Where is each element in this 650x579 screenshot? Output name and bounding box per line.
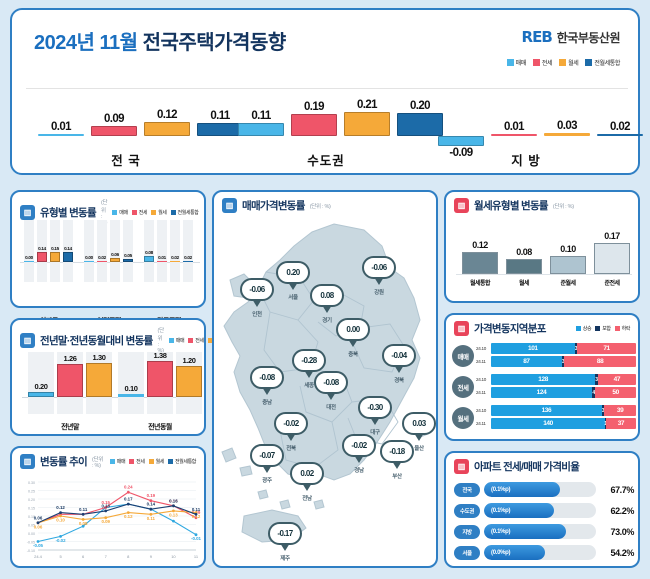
header-chart: 0.010.090.120.11전 국0.110.190.210.20수도권-0… xyxy=(26,88,628,172)
page-title: 2024년 11월 전국주택가격동향 xyxy=(34,26,286,55)
panel-e-plot: 매매24.1010137124.1187388전세24.1012834724.1… xyxy=(452,343,636,439)
legend-swatch xyxy=(533,59,540,66)
header-bars: -0.090.010.030.02 xyxy=(438,88,643,136)
map-pin-전남[interactable]: 0.02전남 xyxy=(290,462,324,502)
bar-value: 0.00 xyxy=(21,255,37,260)
svg-text:0.19: 0.19 xyxy=(147,493,156,498)
title-year-month: 2024년 11월 xyxy=(34,32,138,54)
legend-label: 전세 xyxy=(542,58,552,67)
legend-label: 월세 xyxy=(158,209,166,216)
map-pin-label: 전남 xyxy=(290,494,324,502)
header-group-label: 전 국 xyxy=(26,150,226,169)
dist-row: 24.10101371 xyxy=(476,343,636,354)
header-bar xyxy=(38,134,84,136)
panel-price-change-region-dist: ▥ 가격변동지역분포 상승보합하락 매매24.1010137124.118738… xyxy=(444,313,640,441)
map-pin-value: -0.04 xyxy=(382,344,416,367)
bar xyxy=(63,252,73,262)
dist-segment-down: 39 xyxy=(604,405,636,416)
bar-track xyxy=(97,220,107,282)
bar-track xyxy=(123,220,133,282)
axis-baseline xyxy=(456,274,632,275)
legend-item-2: 월세 xyxy=(559,58,578,67)
panel-e-legend: 상승보합하락 xyxy=(576,325,630,332)
legend-swatch xyxy=(129,459,134,464)
bar xyxy=(84,261,94,263)
ratio-fill: (0.0%p) xyxy=(484,545,545,560)
panel-d-title: 월세유형별 변동률 xyxy=(474,198,548,213)
ratio-region-badge: 수도권 xyxy=(454,504,480,518)
header-bar-value: 0.01 xyxy=(38,121,84,133)
header-bar xyxy=(597,134,643,136)
legend-item-0: 매매 xyxy=(507,58,526,67)
map-pin-value: 0.03 xyxy=(402,412,436,435)
map-pin-value: 0.20 xyxy=(276,261,310,284)
svg-text:0.13: 0.13 xyxy=(101,503,110,508)
svg-text:11: 11 xyxy=(194,554,199,559)
title-subject: 전국주택가격동향 xyxy=(143,32,286,54)
map-pin-인천[interactable]: -0.06인천 xyxy=(240,278,274,318)
bar xyxy=(118,394,144,397)
map-pin-경남[interactable]: -0.02경남 xyxy=(342,434,376,474)
header-bar xyxy=(144,122,190,136)
dist-bar: 101371 xyxy=(491,343,636,354)
header-bar-wrap: 0.02 xyxy=(597,88,643,136)
header-bar-wrap: 0.11 xyxy=(238,88,284,136)
legend-swatch xyxy=(171,210,176,215)
bar xyxy=(50,252,60,263)
panel-e-head: ▥ 가격변동지역분포 상승보합하락 xyxy=(446,315,638,336)
panel-d-unit: (단위 : %) xyxy=(553,202,574,210)
ratio-row-서울: 서울(0.0%p)54.2% xyxy=(454,544,634,561)
header-group-2: -0.090.010.030.02지 방 xyxy=(426,88,626,172)
svg-text:8: 8 xyxy=(127,554,130,559)
panel-map-head: ▥ 매매가격변동률 (단위 : %) xyxy=(214,192,436,213)
legend-item-1: 전세 xyxy=(132,209,147,216)
panel-map-title: 매매가격변동률 xyxy=(242,198,305,213)
panel-f-title: 아파트 전세/매매 가격비율 xyxy=(474,459,579,474)
svg-text:9: 9 xyxy=(150,554,153,559)
map-pin-value: 0.08 xyxy=(310,284,344,307)
svg-text:0.12: 0.12 xyxy=(124,514,133,519)
map-pin-value: -0.17 xyxy=(268,522,302,545)
dist-group-badge: 월세 xyxy=(452,407,474,429)
legend-item-3: 전월세통합 xyxy=(168,458,196,465)
legend-label: 매매 xyxy=(176,337,184,344)
legend-label: 하락 xyxy=(622,325,630,332)
bar xyxy=(144,256,154,262)
svg-text:0.06: 0.06 xyxy=(34,524,43,529)
svg-text:0.11: 0.11 xyxy=(192,507,201,512)
map-pin-광주[interactable]: -0.07광주 xyxy=(250,444,284,484)
map-pin-value: 0.00 xyxy=(336,318,370,341)
svg-text:0.09: 0.09 xyxy=(101,519,110,524)
dist-segment-down: 37 xyxy=(606,418,636,429)
panel-a-legend: 매매전세월세전월세통합 xyxy=(112,209,198,216)
svg-text:0.16: 0.16 xyxy=(169,498,178,503)
ratio-fill: (0.1%p) xyxy=(484,503,554,518)
bar xyxy=(176,366,202,397)
map-pin-value: 0.02 xyxy=(290,462,324,485)
panel-c-head: ▥ 변동률 추이 (단위 : %) 매매전세월세전월세통합 xyxy=(12,448,204,469)
panel-sale-price-change-map: ▥ 매매가격변동률 (단위 : %) xyxy=(212,190,438,568)
panel-map-unit: (단위 : %) xyxy=(310,202,331,210)
header-bar-value: 0.01 xyxy=(491,121,537,133)
ratio-track: (0.1%p) xyxy=(484,503,596,518)
header-bar-wrap: -0.09 xyxy=(438,88,484,136)
korea-map: -0.06인천0.20서울0.08경기-0.06강원0.00충북-0.28세종-… xyxy=(214,216,440,568)
header-bar-wrap: 0.21 xyxy=(344,88,390,136)
bar-value: 0.20 xyxy=(24,382,58,391)
infographic-root: 2024년 11월 전국주택가격동향 REB 한국부동산원 매매전세월세전월세통… xyxy=(0,0,650,579)
bar-track xyxy=(24,220,34,282)
legend-swatch xyxy=(559,59,566,66)
svg-text:0.14: 0.14 xyxy=(147,502,156,507)
bar-track xyxy=(84,220,94,282)
legend-item-0: 상승 xyxy=(576,325,591,332)
bar xyxy=(157,261,167,263)
header-bar-wrap: 0.03 xyxy=(544,88,590,136)
bar-value: 0.12 xyxy=(458,240,502,250)
map-pin-value: -0.30 xyxy=(358,396,392,419)
panel-d-head: ▥ 월세유형별 변동률 (단위 : %) xyxy=(446,192,638,213)
map-pin-label: 제주 xyxy=(268,554,302,562)
chart-icon: ▥ xyxy=(20,205,35,220)
brand: REB 한국부동산원 xyxy=(522,28,620,46)
ratio-delta: (0.0%p) xyxy=(491,550,510,556)
legend-swatch xyxy=(576,326,581,331)
ratio-region-badge: 서울 xyxy=(454,546,480,560)
map-pin-value: -0.08 xyxy=(250,366,284,389)
bar xyxy=(110,258,120,262)
legend-swatch xyxy=(149,459,154,464)
legend-item-0: 매매 xyxy=(110,458,125,465)
header-group-1: 0.110.190.210.20수도권 xyxy=(226,88,426,172)
panel-a-title: 유형별 변동률 xyxy=(40,205,96,220)
trend-line-svg: -0.10-0.050.000.050.100.150.200.250.3024… xyxy=(18,474,202,566)
svg-text:6: 6 xyxy=(82,554,85,559)
legend-label: 매매 xyxy=(516,58,526,67)
legend-swatch xyxy=(151,210,156,215)
dist-period: 24.11 xyxy=(476,421,491,426)
dist-segment-down: 47 xyxy=(598,374,636,385)
svg-text:0.13: 0.13 xyxy=(169,512,178,517)
panel-change-rate-trend: ▥ 변동률 추이 (단위 : %) 매매전세월세전월세통합 -0.10-0.05… xyxy=(10,446,206,568)
header-bar-value: 0.09 xyxy=(91,113,137,125)
bar xyxy=(28,392,54,397)
dist-row: 24.11140137 xyxy=(476,418,636,429)
panel-c-title: 변동률 추이 xyxy=(40,454,87,469)
legend-swatch xyxy=(132,210,137,215)
header-bar-value: 0.12 xyxy=(144,109,190,121)
map-pin-대구[interactable]: -0.30대구 xyxy=(358,396,392,436)
ratio-percent: 62.2% xyxy=(600,506,634,516)
map-pin-부산[interactable]: -0.18부산 xyxy=(380,440,414,480)
panel-b-title: 전년말·전년동월대비 변동률 xyxy=(40,333,153,348)
panel-f-plot: 전국(0.1%p)67.7%수도권(0.1%p)62.2%지방(0.1%p)73… xyxy=(454,481,634,565)
svg-text:10: 10 xyxy=(171,554,176,559)
dist-row: 24.10136339 xyxy=(476,405,636,416)
legend-item-1: 전세 xyxy=(533,58,552,67)
chart-icon: ▥ xyxy=(20,454,35,469)
legend-item-3: 전월세통합 xyxy=(585,58,620,67)
legend-label: 매매 xyxy=(117,458,125,465)
map-pin-value: -0.28 xyxy=(292,349,326,372)
map-pin-label: 경남 xyxy=(342,466,376,474)
dist-segment-up: 140 xyxy=(491,418,605,429)
panel-e-title: 가격변동지역분포 xyxy=(474,321,546,336)
map-pin-강원[interactable]: -0.06강원 xyxy=(362,256,396,296)
bar-label: 월세 xyxy=(502,278,546,287)
dist-bar: 140137 xyxy=(491,418,636,429)
svg-text:0.06: 0.06 xyxy=(34,515,43,520)
dist-group-월세: 월세24.1013633924.11140137 xyxy=(452,405,636,433)
map-pin-label: 부산 xyxy=(380,472,414,480)
svg-text:0.00: 0.00 xyxy=(28,532,35,536)
bar-track xyxy=(157,220,167,282)
header-bar-wrap: 0.19 xyxy=(291,88,337,136)
panel-c-plot: -0.10-0.050.000.050.100.150.200.250.3024… xyxy=(18,474,202,566)
header-bar xyxy=(491,134,537,136)
map-pin-value: -0.02 xyxy=(342,434,376,457)
map-pin-value: -0.02 xyxy=(274,412,308,435)
header-bar-value: 0.02 xyxy=(597,121,643,133)
bar-track xyxy=(118,352,144,414)
dist-segment-down: 88 xyxy=(564,356,636,367)
ratio-row-전국: 전국(0.1%p)67.7% xyxy=(454,481,634,498)
legend-item-3: 전월세통합 xyxy=(171,209,199,216)
bar xyxy=(123,259,133,263)
header-bar xyxy=(291,114,337,136)
legend-item-0: 매매 xyxy=(112,209,127,216)
legend-item-2: 월세 xyxy=(151,209,166,216)
panel-c-legend: 매매전세월세전월세통합 xyxy=(110,458,196,465)
header-bar-value: 0.21 xyxy=(344,99,390,111)
map-pin-서울[interactable]: 0.20서울 xyxy=(276,261,310,301)
map-pin-value: -0.08 xyxy=(314,371,348,394)
ratio-track: (0.0%p) xyxy=(484,545,596,560)
map-pin-충남[interactable]: -0.08충남 xyxy=(250,366,284,406)
legend-label: 전세 xyxy=(139,209,147,216)
map-pin-충북[interactable]: 0.00충북 xyxy=(336,318,370,358)
group-label: 전년동월 xyxy=(122,422,198,432)
legend-swatch xyxy=(507,59,514,66)
svg-text:5: 5 xyxy=(59,554,62,559)
legend-item-0: 매매 xyxy=(169,337,184,344)
map-pin-경북[interactable]: -0.04경북 xyxy=(382,344,416,384)
svg-text:0.15: 0.15 xyxy=(28,507,35,511)
legend-label: 월세 xyxy=(568,58,578,67)
bar xyxy=(183,261,193,263)
svg-text:0.17: 0.17 xyxy=(124,497,133,502)
dist-bar: 124450 xyxy=(491,387,636,398)
map-pin-label: 광주 xyxy=(250,476,284,484)
legend-swatch xyxy=(595,326,600,331)
panel-b-plot: 0.201.261.30전년말0.101.381.20전년동월 xyxy=(22,352,198,414)
legend-swatch xyxy=(188,338,193,343)
map-pin-label: 경북 xyxy=(382,376,416,384)
dist-group-전세: 전세24.1012834724.11124450 xyxy=(452,374,636,402)
dist-row: 24.10128347 xyxy=(476,374,636,385)
legend-swatch xyxy=(169,338,174,343)
bar-label: 준월세 xyxy=(546,278,590,287)
panel-monthly-rent-type: ▥ 월세유형별 변동률 (단위 : %) 0.12월세통합0.08월세0.10준… xyxy=(444,190,640,303)
header-group-label: 지 방 xyxy=(426,150,626,169)
header-bar xyxy=(438,136,484,146)
brand-name: 한국부동산원 xyxy=(557,29,620,46)
svg-text:0.20: 0.20 xyxy=(28,498,35,502)
legend-label: 매매 xyxy=(119,209,127,216)
svg-text:0.25: 0.25 xyxy=(28,490,35,494)
dist-period: 24.11 xyxy=(476,359,491,364)
ratio-track: (0.1%p) xyxy=(484,524,596,539)
ratio-percent: 54.2% xyxy=(600,548,634,558)
chart-icon: ▥ xyxy=(222,198,237,213)
legend-item-1: 보합 xyxy=(595,325,610,332)
reb-logo: REB xyxy=(522,28,552,46)
legend-swatch xyxy=(112,210,117,215)
svg-text:-0.01: -0.01 xyxy=(191,536,202,541)
header-bar-value: 0.19 xyxy=(291,101,337,113)
header-bar-value: 0.11 xyxy=(238,110,284,122)
dist-bar: 87388 xyxy=(491,356,636,367)
svg-text:0.10: 0.10 xyxy=(56,518,65,523)
bar xyxy=(506,259,542,274)
svg-text:-0.05: -0.05 xyxy=(33,543,44,548)
map-pin-label: 충남 xyxy=(250,398,284,406)
header-bars: 0.110.190.210.20 xyxy=(238,88,443,136)
ratio-region-badge: 전국 xyxy=(454,483,480,497)
panel-c-unit: (단위 : %) xyxy=(92,455,105,469)
map-pin-label: 대전 xyxy=(314,403,348,411)
ratio-fill: (0.1%p) xyxy=(484,482,560,497)
legend-item-2: 하락 xyxy=(615,325,630,332)
svg-text:0.11: 0.11 xyxy=(79,507,88,512)
header-bar xyxy=(544,133,590,136)
bar xyxy=(170,261,180,263)
map-pin-value: -0.06 xyxy=(362,256,396,279)
bar-value: 0.02 xyxy=(180,255,196,260)
bar-track xyxy=(183,220,193,282)
legend-swatch xyxy=(110,459,115,464)
dist-group-매매: 매매24.1010137124.1187388 xyxy=(452,343,636,371)
bar xyxy=(594,243,630,274)
bar xyxy=(86,363,112,397)
header-bar xyxy=(344,112,390,136)
header-bar-wrap: 0.01 xyxy=(491,88,537,136)
bar xyxy=(37,252,47,262)
svg-text:-0.10: -0.10 xyxy=(27,549,35,553)
bar xyxy=(550,256,586,275)
bar-value: 1.20 xyxy=(172,356,206,365)
dist-bar: 136339 xyxy=(491,405,636,416)
dist-group-badge: 매매 xyxy=(452,345,474,367)
svg-text:-0.02: -0.02 xyxy=(56,538,67,543)
ratio-delta: (0.1%p) xyxy=(491,529,510,535)
chart-icon: ▥ xyxy=(20,333,35,348)
dist-row: 24.11124450 xyxy=(476,387,636,398)
chart-icon: ▥ xyxy=(454,459,469,474)
legend-label: 상승 xyxy=(583,325,591,332)
bar-value: 0.10 xyxy=(546,244,590,254)
dist-segment-up: 101 xyxy=(491,343,575,354)
panel-b-unit: (단위 : %) xyxy=(158,326,164,354)
panel-b-head: ▥ 전년말·전년동월대비 변동률 (단위 : %) 매매전세월세 xyxy=(12,320,204,354)
svg-text:0.08: 0.08 xyxy=(79,521,88,526)
legend-swatch xyxy=(168,459,173,464)
map-pin-value: -0.06 xyxy=(240,278,274,301)
dist-segment-down: 71 xyxy=(577,343,636,354)
legend-label: 전세 xyxy=(136,458,144,465)
bar-value: 0.17 xyxy=(590,231,634,241)
header-legend: 매매전세월세전월세통합 xyxy=(507,58,620,67)
ratio-region-badge: 지방 xyxy=(454,525,480,539)
dist-period: 24.10 xyxy=(476,408,491,413)
ratio-percent: 73.0% xyxy=(600,527,634,537)
panel-yoy-change-rate: ▥ 전년말·전년동월대비 변동률 (단위 : %) 매매전세월세 0.201.2… xyxy=(10,318,206,436)
group-label: 전년말 xyxy=(32,422,108,432)
header-bar-wrap: 0.09 xyxy=(91,88,137,136)
bar-value: 1.30 xyxy=(82,353,116,362)
ratio-fill: (0.1%p) xyxy=(484,524,566,539)
map-pin-label: 인천 xyxy=(240,310,274,318)
panel-f-head: ▥ 아파트 전세/매매 가격비율 xyxy=(446,453,638,474)
header-bar-value: 0.03 xyxy=(544,120,590,132)
svg-text:24.4: 24.4 xyxy=(34,554,43,559)
svg-text:0.12: 0.12 xyxy=(56,505,65,510)
header-group-label: 수도권 xyxy=(226,150,426,169)
dist-segment-up: 136 xyxy=(491,405,602,416)
legend-item-1: 전세 xyxy=(129,458,144,465)
dist-period: 24.10 xyxy=(476,377,491,382)
legend-item-2: 월세 xyxy=(149,458,164,465)
map-pin-label: 충북 xyxy=(336,350,370,358)
map-pin-value: -0.07 xyxy=(250,444,284,467)
dist-segment-up: 128 xyxy=(491,374,595,385)
header-bar xyxy=(238,123,284,136)
bar-label: 월세통합 xyxy=(458,278,502,287)
bar xyxy=(24,261,34,263)
bar-value: 0.05 xyxy=(120,253,136,258)
bar xyxy=(462,252,498,274)
bar-value: 0.10 xyxy=(114,384,148,393)
ratio-delta: (0.1%p) xyxy=(491,508,510,514)
ratio-track: (0.1%p) xyxy=(484,482,596,497)
svg-text:7: 7 xyxy=(105,554,108,559)
dist-period: 24.10 xyxy=(476,346,491,351)
legend-label: 월세 xyxy=(156,458,164,465)
map-pin-대전[interactable]: -0.08대전 xyxy=(314,371,348,411)
ratio-percent: 67.7% xyxy=(600,485,634,495)
legend-label: 전세 xyxy=(195,337,203,344)
map-pin-value: -0.18 xyxy=(380,440,414,463)
ratio-row-수도권: 수도권(0.1%p)62.2% xyxy=(454,502,634,519)
dist-row: 24.1187388 xyxy=(476,356,636,367)
dist-segment-up: 87 xyxy=(491,356,562,367)
dist-bar: 128347 xyxy=(491,374,636,385)
panel-type-change-rate: ▥ 유형별 변동률 (단위 : %) 매매전세월세전월세통합 0.000.140… xyxy=(10,190,206,308)
legend-item-1: 전세 xyxy=(188,337,203,344)
svg-text:0.24: 0.24 xyxy=(124,485,133,490)
bar xyxy=(57,364,83,397)
map-pin-제주[interactable]: -0.17제주 xyxy=(268,522,302,562)
bar-value: 0.14 xyxy=(60,246,76,251)
header-bars: 0.010.090.120.11 xyxy=(38,88,243,136)
svg-text:0.30: 0.30 xyxy=(28,481,35,485)
header-bar xyxy=(91,126,137,136)
chart-icon: ▥ xyxy=(454,321,469,336)
bar-label: 준전세 xyxy=(590,278,634,287)
panel-apartment-jeonse-sale-ratio: ▥ 아파트 전세/매매 가격비율 전국(0.1%p)67.7%수도권(0.1%p… xyxy=(444,451,640,568)
